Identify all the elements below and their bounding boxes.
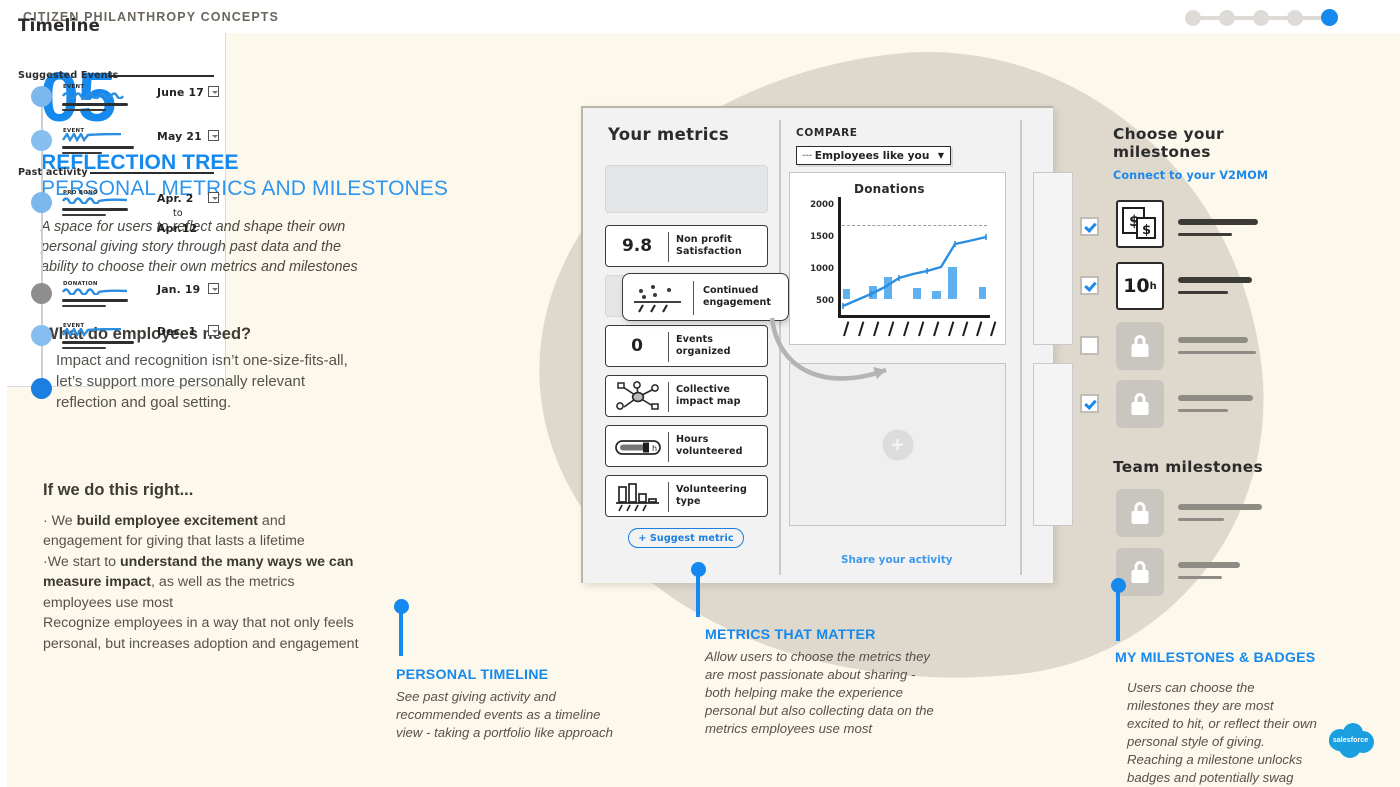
svg-text:$: $ — [1142, 223, 1151, 238]
timeline-detail-line — [62, 214, 106, 216]
compare-select-value: Employees like you — [815, 150, 938, 162]
progress-dot-5-active[interactable] — [1321, 9, 1338, 26]
progress-dot-1[interactable] — [1185, 10, 1201, 26]
dragging-metric-card-continued-engagement[interactable]: Continued engagement — [622, 273, 789, 321]
milestone-title-bar-3 — [1178, 337, 1248, 343]
slide-canvas: CITIZEN PHILANTHROPY CONCEPTS 05 REFLECT… — [0, 0, 1400, 787]
team-milestones-heading: Team milestones — [1113, 459, 1263, 477]
progress-dot-4[interactable] — [1287, 10, 1303, 26]
section-rule-1 — [108, 75, 214, 77]
timeline-dot-current[interactable] — [31, 378, 52, 399]
outcome-line3: Recognize employees in a way that not on… — [43, 615, 359, 651]
lock-icon[interactable] — [1116, 489, 1164, 537]
timeline-dot[interactable] — [31, 283, 52, 304]
annotation-arrow — [770, 300, 950, 400]
progress-dot-2[interactable] — [1219, 10, 1235, 26]
timeline-detail-line — [62, 347, 106, 349]
hours-icon[interactable]: 10h — [1116, 262, 1164, 310]
timeline-item-date: May 21 — [157, 130, 202, 143]
third-column-placeholder-2 — [1033, 363, 1073, 526]
callout-body-2: Allow users to choose the metrics they a… — [705, 648, 943, 738]
third-column-placeholder-1 — [1033, 172, 1073, 345]
network-icon — [612, 381, 664, 413]
timeline-item-date: June 17 — [157, 86, 204, 99]
timeline-item-date: Jan. 19 — [157, 283, 200, 296]
logo-text: salesforce — [1323, 718, 1378, 763]
timeline-title-scribble — [62, 286, 128, 295]
progress-dot-3[interactable] — [1253, 10, 1269, 26]
callout-title-3: MY MILESTONES & BADGES — [1115, 650, 1315, 666]
timeline-detail-line — [62, 305, 106, 307]
milestone-title-bar-2 — [1178, 277, 1252, 283]
milestone-sub-bar-1 — [1178, 233, 1232, 236]
metric-separator — [668, 482, 669, 512]
timeline-dot[interactable] — [31, 325, 52, 346]
timeline-detail-line — [62, 103, 128, 106]
timeline-section-suggested: Suggested Events — [18, 70, 119, 81]
timeline-item-date-separator: to — [173, 208, 183, 219]
milestone-checkbox-1[interactable] — [1080, 217, 1099, 236]
timeline-detail-line — [62, 341, 134, 344]
timeline-dot[interactable] — [31, 192, 52, 213]
timeline-title-scribble — [62, 133, 128, 142]
metric-row-events-organized[interactable]: 0 Events organized — [605, 325, 768, 367]
timeline-section-past: Past activity — [18, 167, 88, 178]
timeline-item-menu-caret[interactable] — [208, 192, 219, 203]
your-metrics-heading: Your metrics — [608, 125, 729, 144]
timeline-detail-line — [62, 109, 106, 111]
milestone-title-bar-4 — [1178, 395, 1253, 401]
timeline-dot[interactable] — [31, 130, 52, 151]
slide-progress-indicator[interactable] — [1185, 10, 1345, 26]
milestone-sub-bar-4 — [1178, 409, 1228, 412]
panel-divider-2 — [1020, 120, 1022, 575]
outcome-heading: If we do this right... — [43, 481, 193, 500]
metric-row-hours-volunteered[interactable]: h Hours volunteered — [605, 425, 768, 467]
intro-paragraph: A space for users to reflect and shape t… — [41, 217, 361, 277]
outcome-line2-prefix: ·We start to — [43, 554, 120, 570]
team-milestone-sub-bar-2 — [1178, 576, 1222, 579]
timeline-item-menu-caret[interactable] — [208, 86, 219, 97]
metric-separator — [668, 332, 669, 362]
timeline-detail-line — [62, 146, 134, 149]
callout-title-2: METRICS THAT MATTER — [705, 627, 876, 643]
timeline-title-scribble — [62, 328, 128, 337]
lock-icon[interactable] — [1116, 380, 1164, 428]
outcome-body: · We build employee excitement and engag… — [43, 511, 360, 654]
milestone-sub-bar-2 — [1178, 291, 1228, 294]
metric-label: Collective impact map — [676, 376, 766, 416]
metric-label: Non profit Satisfaction — [676, 226, 766, 266]
timeline-item-date-end: Apr.12 — [157, 222, 197, 235]
callout-stem-1 — [399, 606, 403, 656]
metric-row-nonprofit-satisfaction[interactable]: 9.8 Non profit Satisfaction — [605, 225, 768, 267]
team-milestone-title-bar-2 — [1178, 562, 1240, 568]
milestone-checkbox-4[interactable] — [1080, 394, 1099, 413]
callout-stem-3 — [1116, 585, 1120, 641]
callout-body-1: See past giving activity and recommended… — [396, 688, 628, 742]
timeline-item-menu-caret[interactable] — [208, 283, 219, 294]
chevron-down-icon: ▼ — [938, 151, 950, 160]
lock-glyph — [1132, 335, 1149, 357]
salesforce-logo: salesforce — [1323, 718, 1378, 763]
timeline-item-menu-caret[interactable] — [208, 130, 219, 141]
timeline-title-scribble — [62, 90, 128, 99]
team-milestone-title-bar-1 — [1178, 504, 1262, 510]
share-activity-link[interactable]: Share your activity — [841, 554, 953, 566]
metric-separator — [668, 432, 669, 462]
left-edge-stripe — [0, 33, 7, 787]
hours-badge-text: 10h — [1118, 264, 1162, 308]
lock-glyph — [1132, 502, 1149, 524]
lock-icon[interactable] — [1116, 322, 1164, 370]
need-body: Impact and recognition isn’t one-size-fi… — [56, 350, 356, 413]
timeline-item-date: Apr. 2 — [157, 192, 194, 205]
outcome-line1-bold: build employee excitement — [77, 513, 258, 529]
timeline-item-date: Dec. 1 — [157, 325, 196, 338]
compare-label: COMPARE — [796, 127, 858, 139]
callout-stem-2 — [696, 569, 700, 617]
milestone-checkbox-3[interactable] — [1080, 336, 1099, 355]
team-milestone-sub-bar-1 — [1178, 518, 1224, 521]
svg-text:h: h — [652, 444, 657, 453]
plus-icon[interactable]: + — [882, 429, 913, 460]
metric-separator — [693, 281, 694, 315]
metric-row-collective-impact-map[interactable]: Collective impact map — [605, 375, 768, 417]
timeline-title: Timeline — [18, 16, 100, 35]
metric-label: Hours volunteered — [676, 426, 766, 466]
timeline-title-scribble — [62, 195, 128, 204]
connect-v2mom-link[interactable]: Connect to your V2MOM — [1113, 169, 1268, 182]
metric-separator — [668, 232, 669, 262]
compare-select[interactable]: --- Employees like you ▼ — [796, 146, 951, 165]
choose-milestones-heading: Choose your milestones — [1113, 126, 1293, 161]
metric-value: 0 — [606, 326, 668, 366]
gauge-icon: h — [612, 431, 664, 463]
metric-label: Events organized — [676, 326, 766, 366]
metric-value: 9.8 — [606, 226, 668, 266]
milestone-sub-bar-3 — [1178, 351, 1256, 354]
select-leading-dashes: --- — [797, 151, 815, 161]
dollar-bills-icon[interactable]: $ $ — [1116, 200, 1164, 248]
timeline-detail-line — [62, 208, 128, 211]
metric-label: Volunteering type — [676, 476, 766, 516]
callout-title-1: PERSONAL TIMELINE — [396, 667, 548, 683]
bar-chart-icon — [612, 481, 664, 513]
timeline-item-menu-caret[interactable] — [208, 325, 219, 336]
callout-body-3: Users can choose the milestones they are… — [1127, 679, 1317, 787]
timeline-dot[interactable] — [31, 86, 52, 107]
outcome-line1-prefix: · We — [43, 513, 77, 529]
metric-separator — [668, 382, 669, 412]
milestone-title-bar-1 — [1178, 219, 1258, 225]
milestone-checkbox-2[interactable] — [1080, 276, 1099, 295]
dots-chart-icon — [631, 281, 687, 320]
metric-row-volunteering-type[interactable]: Volunteering type — [605, 475, 768, 517]
suggest-metric-button[interactable]: + Suggest metric — [628, 528, 744, 548]
lock-glyph — [1132, 561, 1149, 583]
timeline-detail-line — [62, 299, 128, 302]
lock-glyph — [1132, 393, 1149, 415]
metric-row-placeholder-1[interactable] — [605, 165, 768, 213]
top-bar: CITIZEN PHILANTHROPY CONCEPTS — [0, 0, 1400, 33]
timeline-detail-line — [62, 152, 102, 154]
section-rule-2 — [90, 172, 214, 174]
